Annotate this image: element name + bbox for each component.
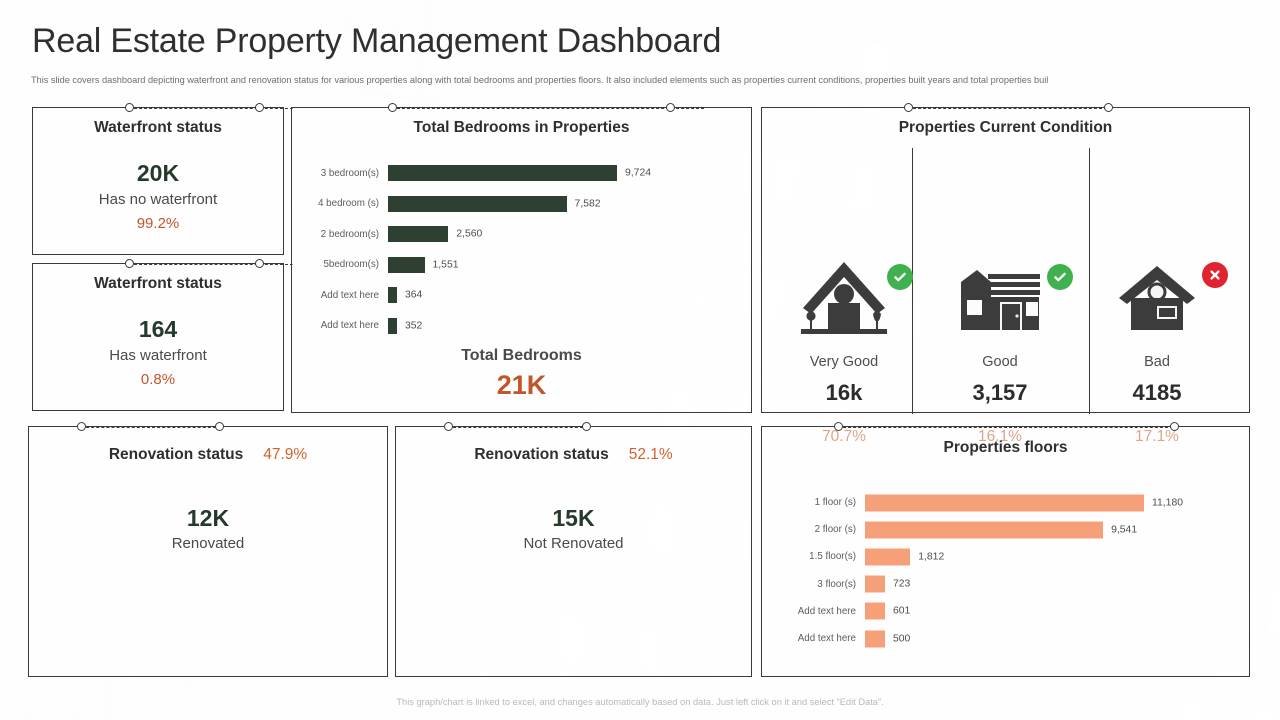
bar-fill — [388, 165, 617, 181]
bar-row: 1.5 floor(s)1,812 — [770, 543, 1242, 570]
bar-value-label: 500 — [893, 633, 910, 644]
selection-handles — [292, 100, 751, 116]
bar-value-label: 11,180 — [1152, 497, 1183, 508]
bar-row: Add text here500 — [770, 625, 1242, 652]
condition-item-bad[interactable]: Bad 4185 17.1% — [1082, 256, 1232, 446]
handle-knob — [77, 422, 86, 431]
check-badge-icon — [887, 264, 913, 290]
kpi-value: 20K — [33, 160, 283, 187]
bar-category-label: 1.5 floor(s) — [770, 551, 865, 562]
bar-category-label: Add text here — [300, 290, 388, 301]
page-title: Real Estate Property Management Dashboar… — [32, 22, 721, 61]
bar-fill — [388, 318, 397, 334]
bar-track: 11,180 — [865, 489, 1242, 516]
bar-category-label: 3 bedroom(s) — [300, 168, 388, 179]
bar-value-label: 364 — [405, 290, 422, 301]
bar-track: 1,551 — [388, 250, 745, 281]
bar-track: 364 — [388, 280, 745, 311]
footer-note: This graph/chart is linked to excel, and… — [0, 697, 1280, 707]
selection-handles — [762, 100, 1249, 116]
handle-knob — [388, 103, 397, 112]
card-title: Renovation status — [474, 446, 608, 464]
handle-knob — [444, 422, 453, 431]
selection-handles — [33, 256, 283, 272]
kpi-value: 12K — [29, 505, 387, 532]
bar-row: 3 bedroom(s)9,724 — [300, 158, 745, 189]
kpi-label: Has waterfront — [33, 347, 283, 364]
card-total-bedrooms[interactable]: Total Bedrooms in Properties 3 bedroom(s… — [291, 107, 752, 413]
handle-knob — [1104, 103, 1113, 112]
page-subtitle: This slide covers dashboard depicting wa… — [31, 74, 1241, 87]
check-badge-icon — [1047, 264, 1073, 290]
bar-value-label: 9,541 — [1111, 524, 1137, 535]
kpi-value: 164 — [33, 316, 283, 343]
bar-category-label: 5bedroom(s) — [300, 259, 388, 270]
kpi-label: Renovated — [29, 535, 387, 552]
panel-title: Properties Current Condition — [762, 119, 1249, 137]
kpi-percent: 0.8% — [33, 371, 283, 388]
bar-value-label: 2,560 — [456, 229, 482, 240]
condition-item-good[interactable]: Good 3,157 16.1% — [925, 256, 1075, 446]
bar-fill — [865, 630, 885, 647]
bar-track: 723 — [865, 571, 1242, 598]
house-cottage-icon — [769, 256, 919, 338]
condition-name: Good — [925, 354, 1075, 370]
bar-category-label: Add text here — [770, 606, 865, 617]
bar-fill — [388, 226, 448, 242]
bar-track: 1,812 — [865, 543, 1242, 570]
bar-track: 9,724 — [388, 158, 745, 189]
condition-count: 4185 — [1082, 380, 1232, 406]
card-percent: 47.9% — [263, 446, 307, 464]
selection-handles — [396, 419, 751, 435]
handle-knob — [255, 103, 264, 112]
bar-track: 7,582 — [388, 189, 745, 220]
kpi-value: 15K — [396, 505, 751, 532]
bar-track: 9,541 — [865, 516, 1242, 543]
card-title: Renovation status — [109, 446, 243, 464]
bar-fill — [865, 494, 1144, 511]
handle-knob — [904, 103, 913, 112]
chart-title: Total Bedrooms in Properties — [292, 119, 751, 137]
card-renovated[interactable]: Renovation status 47.9% 12K Renovated — [28, 426, 388, 677]
card-not-renovated[interactable]: Renovation status 52.1% 15K Not Renovate… — [395, 426, 752, 677]
condition-count: 3,157 — [925, 380, 1075, 406]
card-title: Waterfront status — [33, 275, 283, 293]
condition-name: Bad — [1082, 354, 1232, 370]
handle-knob — [582, 422, 591, 431]
cross-badge-icon — [1202, 262, 1228, 288]
condition-count: 16k — [769, 380, 919, 406]
house-small-icon — [1082, 256, 1232, 338]
bar-row: Add text here364 — [300, 280, 745, 311]
dashboard-slide: Real Estate Property Management Dashboar… — [0, 0, 1280, 720]
card-waterfront-no[interactable]: Waterfront status 20K Has no waterfront … — [32, 107, 284, 255]
renovated-header: Renovation status 47.9% — [29, 446, 387, 464]
bar-category-label: 3 floor(s) — [770, 579, 865, 590]
condition-name: Very Good — [769, 354, 919, 370]
card-waterfront-yes[interactable]: Waterfront status 164 Has waterfront 0.8… — [32, 263, 284, 411]
not-renovated-header: Renovation status 52.1% — [396, 446, 751, 464]
bar-fill — [388, 257, 425, 273]
bedrooms-bar-chart: 3 bedroom(s)9,7244 bedroom (s)7,5822 bed… — [300, 158, 745, 341]
bar-track: 500 — [865, 625, 1242, 652]
bar-fill — [388, 196, 567, 212]
bar-fill — [865, 576, 885, 593]
bar-row: 5bedroom(s)1,551 — [300, 250, 745, 281]
card-properties-floors[interactable]: Properties floors 1 floor (s)11,1802 flo… — [761, 426, 1250, 677]
condition-item-very-good[interactable]: Very Good 16k 70.7% — [769, 256, 919, 446]
bar-category-label: Add text here — [300, 320, 388, 331]
bar-row: 2 bedroom(s)2,560 — [300, 219, 745, 250]
bar-value-label: 7,582 — [575, 198, 601, 209]
bar-row: 4 bedroom (s)7,582 — [300, 189, 745, 220]
bar-fill — [388, 287, 397, 303]
bar-row: Add text here352 — [300, 311, 745, 342]
handle-knob — [255, 259, 264, 268]
bar-category-label: 4 bedroom (s) — [300, 198, 388, 209]
handle-knob — [125, 259, 134, 268]
bar-track: 601 — [865, 598, 1242, 625]
bar-fill — [865, 548, 910, 565]
floors-bar-chart: 1 floor (s)11,1802 floor (s)9,5411.5 flo… — [770, 489, 1242, 652]
bar-value-label: 9,724 — [625, 168, 651, 179]
bar-value-label: 1,812 — [918, 551, 944, 562]
kpi-label: Not Renovated — [396, 535, 751, 552]
bar-category-label: 2 floor (s) — [770, 524, 865, 535]
bar-category-label: 2 bedroom(s) — [300, 229, 388, 240]
selection-handles — [29, 419, 387, 435]
card-percent: 52.1% — [629, 446, 673, 464]
bar-track: 352 — [388, 311, 745, 342]
bar-category-label: 1 floor (s) — [770, 497, 865, 508]
bar-row: Add text here601 — [770, 598, 1242, 625]
handle-knob — [666, 103, 675, 112]
bar-fill — [865, 521, 1103, 538]
card-properties-condition[interactable]: Properties Current Condition — [761, 107, 1250, 413]
card-title: Waterfront status — [33, 119, 283, 137]
handle-knob — [125, 103, 134, 112]
bar-value-label: 601 — [893, 606, 910, 617]
house-shop-icon — [925, 256, 1075, 338]
handle-knob — [215, 422, 224, 431]
chart-title: Properties floors — [762, 439, 1249, 457]
bar-value-label: 352 — [405, 320, 422, 331]
bar-value-label: 723 — [893, 579, 910, 590]
bar-category-label: Add text here — [770, 633, 865, 644]
bar-row: 3 floor(s)723 — [770, 571, 1242, 598]
bar-track: 2,560 — [388, 219, 745, 250]
bar-fill — [865, 603, 885, 620]
bar-row: 2 floor (s)9,541 — [770, 516, 1242, 543]
bar-value-label: 1,551 — [433, 259, 459, 270]
kpi-percent: 99.2% — [33, 215, 283, 232]
bar-row: 1 floor (s)11,180 — [770, 489, 1242, 516]
total-bedrooms-label: Total Bedrooms — [292, 347, 751, 365]
selection-handles — [33, 100, 283, 116]
total-bedrooms-value: 21K — [292, 370, 751, 401]
kpi-label: Has no waterfront — [33, 191, 283, 208]
